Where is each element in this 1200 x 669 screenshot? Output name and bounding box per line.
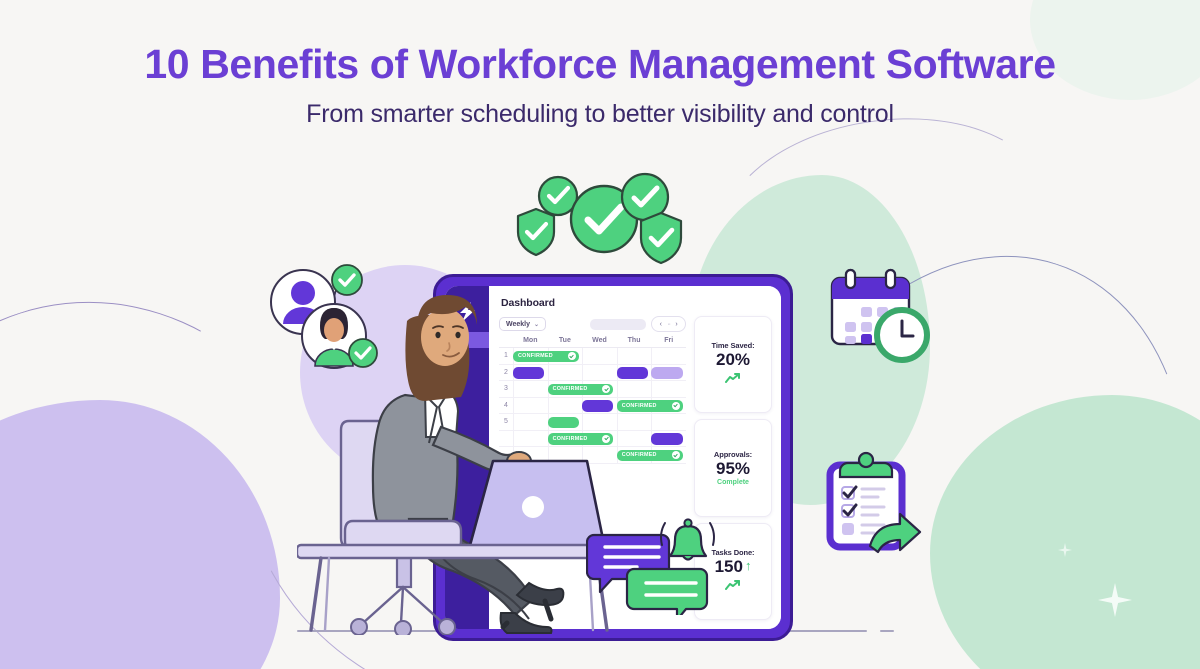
kpi-value: 150↑ <box>715 557 752 577</box>
calendar-clock-icon <box>824 267 936 369</box>
kpi-stat-card[interactable]: Time Saved:20% <box>694 316 772 413</box>
arrow-up-icon: ↑ <box>745 559 752 574</box>
kpi-value: 20% <box>716 350 750 370</box>
clipboard-checklist-icon <box>818 451 930 557</box>
trend-up-icon <box>725 370 741 388</box>
hero-illustration: Dashboard Weekly ⌄ ‹ <box>0 155 1200 669</box>
kpi-label: Time Saved: <box>712 341 755 350</box>
ground-line-dash <box>880 630 894 632</box>
heading-block: 10 Benefits of Workforce Management Soft… <box>0 42 1200 129</box>
chat-bubbles-icon <box>586 515 718 615</box>
page-title: 10 Benefits of Workforce Management Soft… <box>0 42 1200 87</box>
kpi-subtext: Complete <box>717 479 749 486</box>
trend-up-icon <box>725 577 741 595</box>
page-subtitle: From smarter scheduling to better visibi… <box>0 100 1200 129</box>
kpi-value: 95% <box>716 459 750 479</box>
kpi-stat-card[interactable]: Approvals:95%Complete <box>694 419 772 516</box>
kpi-label: Approvals: <box>714 450 752 459</box>
